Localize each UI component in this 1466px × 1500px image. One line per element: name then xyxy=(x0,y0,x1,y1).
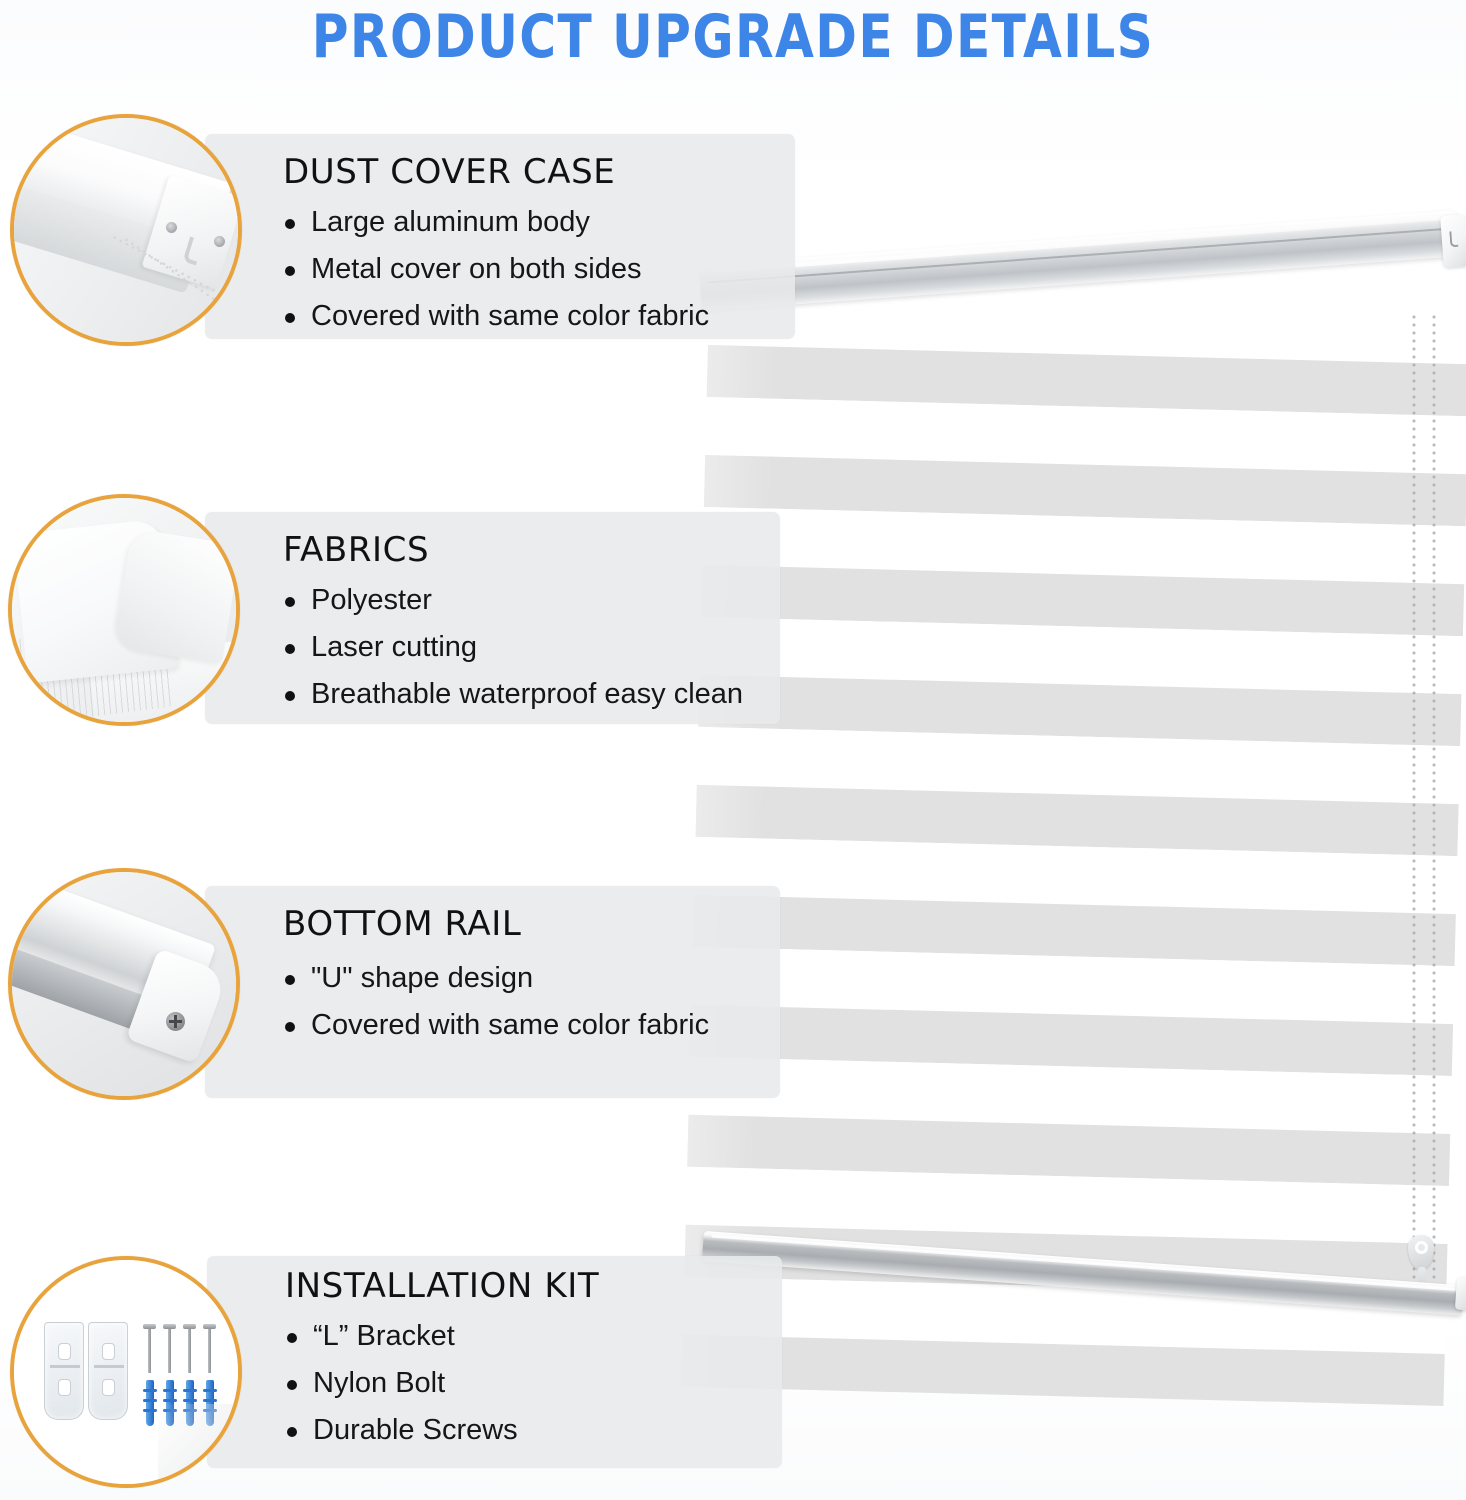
l-bracket-icon xyxy=(88,1322,128,1420)
tensioner-ring xyxy=(1415,1241,1428,1254)
zebra-roller-blind xyxy=(690,195,1466,1365)
photo-corner-shade xyxy=(158,1404,242,1488)
screw-icon xyxy=(166,1324,173,1374)
feature-panel: BOTTOM RAIL "U" shape design Covered wit… xyxy=(205,886,780,1098)
bracket-clip xyxy=(94,1365,124,1368)
anchor-wing xyxy=(203,1389,217,1392)
feature-bullet: Covered with same color fabric xyxy=(283,300,795,333)
nylon-bolt-icon xyxy=(143,1380,157,1426)
page-title: PRODUCT UPGRADE DETAILS xyxy=(51,2,1414,72)
screw-shaft xyxy=(188,1329,191,1373)
screw-shaft xyxy=(148,1329,151,1373)
feature-panel: FABRICS Polyester Laser cutting Breathab… xyxy=(205,512,780,724)
feature-bullet-list: Large aluminum body Metal cover on both … xyxy=(283,206,795,333)
bracket-clip xyxy=(50,1365,80,1368)
feature-bullet: Large aluminum body xyxy=(283,206,795,239)
bottom-rail-photo xyxy=(8,868,240,1100)
feature-panel: DUST COVER CASE Large aluminum body Meta… xyxy=(205,134,795,339)
feature-heading: BOTTOM RAIL xyxy=(283,904,780,944)
feature-bullet: Polyester xyxy=(283,584,780,617)
feature-bullet: Covered with same color fabric xyxy=(283,1009,780,1042)
anchor-wing xyxy=(203,1399,217,1402)
bracket-hole xyxy=(58,1379,71,1396)
anchor-wing xyxy=(163,1389,177,1392)
head-rail-end-cap xyxy=(1440,214,1466,268)
bracket-hole xyxy=(102,1379,115,1396)
feature-bullet: "U" shape design xyxy=(283,962,780,995)
anchor-wing xyxy=(143,1409,157,1412)
head-rail-groove xyxy=(707,228,1450,284)
installation-kit-photo xyxy=(10,1256,242,1488)
feature-heading: INSTALLATION KIT xyxy=(285,1266,782,1306)
bracket-hole xyxy=(102,1343,115,1360)
feature-bullet: Metal cover on both sides xyxy=(283,253,795,286)
screw-icon xyxy=(214,236,225,247)
bottom-rail-end-cap xyxy=(1455,1277,1466,1310)
dust-cover-case-photo xyxy=(10,114,242,346)
anchor-wing xyxy=(183,1389,197,1392)
feature-bullet: Nylon Bolt xyxy=(285,1367,782,1400)
feature-bullet-list: “L” Bracket Nylon Bolt Durable Screws xyxy=(285,1320,782,1447)
screw-shaft xyxy=(168,1329,171,1373)
l-bracket-icon xyxy=(44,1322,84,1420)
feature-bullet-list: Polyester Laser cutting Breathable water… xyxy=(283,584,780,711)
anchor-body xyxy=(146,1380,154,1426)
fabric-fold xyxy=(113,528,240,664)
fabrics-photo xyxy=(8,494,240,726)
screw-icon xyxy=(166,222,177,233)
feature-heading: FABRICS xyxy=(283,530,780,570)
bead-chain xyxy=(1432,313,1436,1313)
feature-heading: DUST COVER CASE xyxy=(283,152,795,192)
anchor-wing xyxy=(143,1399,157,1402)
bracket-hole xyxy=(58,1343,71,1360)
feature-bullet: Laser cutting xyxy=(283,631,780,664)
head-rail-notch xyxy=(1449,231,1458,248)
screw-icon xyxy=(206,1324,213,1374)
feature-bullet: Breathable waterproof easy clean xyxy=(283,678,780,711)
head-rail-highlight xyxy=(714,216,1442,273)
screw-icon xyxy=(186,1324,193,1374)
feature-bullet: “L” Bracket xyxy=(285,1320,782,1353)
bead-chain xyxy=(1412,313,1416,1313)
feature-panel: INSTALLATION KIT “L” Bracket Nylon Bolt … xyxy=(207,1256,782,1468)
feature-bullet-list: "U" shape design Covered with same color… xyxy=(283,962,780,1042)
head-rail xyxy=(699,210,1460,311)
anchor-wing xyxy=(163,1399,177,1402)
screw-shaft xyxy=(208,1329,211,1373)
chain-tensioner xyxy=(1404,1235,1438,1281)
screw-icon xyxy=(146,1324,153,1374)
anchor-wing xyxy=(183,1399,197,1402)
feature-bullet: Durable Screws xyxy=(285,1414,782,1447)
screw-icon xyxy=(166,1012,185,1031)
anchor-wing xyxy=(143,1389,157,1392)
